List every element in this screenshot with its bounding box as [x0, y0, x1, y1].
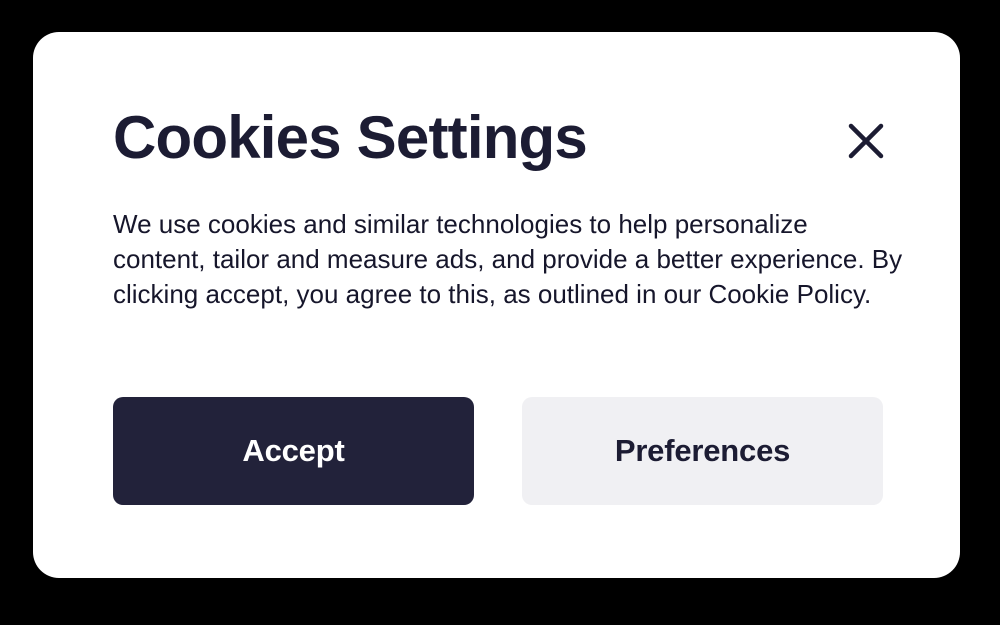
dialog-description: We use cookies and similar technologies … [113, 207, 903, 312]
cookies-settings-dialog: Cookies Settings We use cookies and simi… [33, 32, 960, 578]
preferences-button[interactable]: Preferences [522, 397, 883, 505]
accept-button[interactable]: Accept [113, 397, 474, 505]
dialog-actions: Accept Preferences [113, 397, 883, 505]
modal-backdrop: Cookies Settings We use cookies and simi… [0, 0, 1000, 625]
close-icon [846, 121, 886, 161]
dialog-header: Cookies Settings [33, 32, 960, 182]
page-title: Cookies Settings [113, 108, 587, 168]
close-button[interactable] [835, 110, 897, 172]
